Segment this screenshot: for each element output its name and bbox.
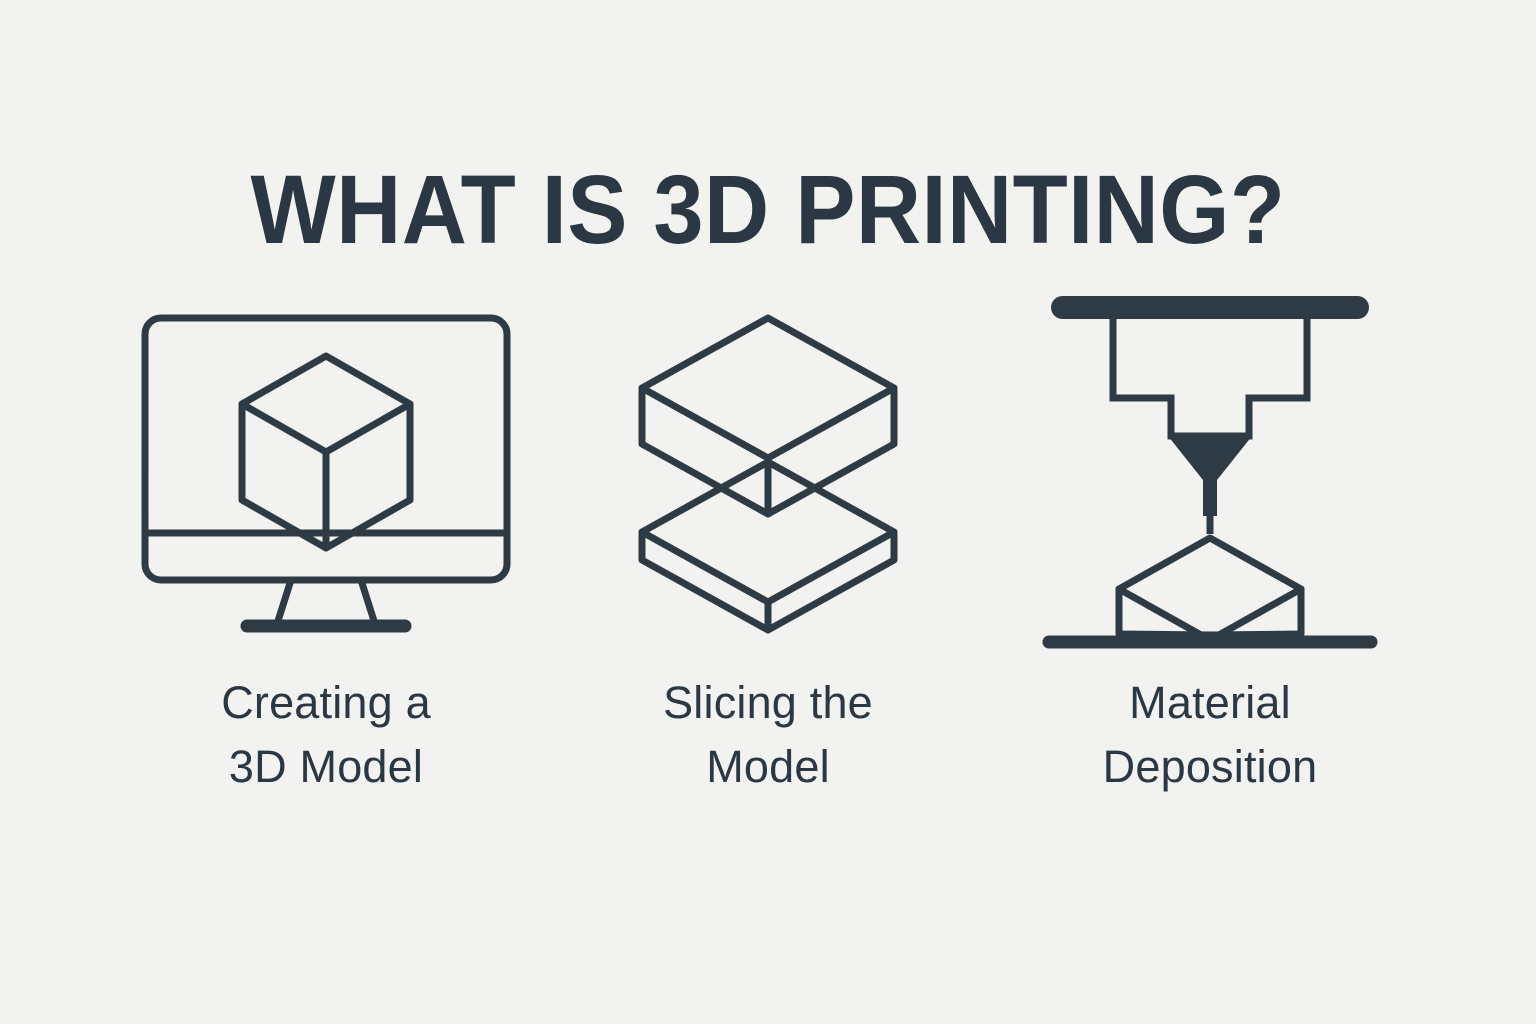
sliced-cube-layers-icon [573,286,963,661]
print-head-housing [1113,312,1307,436]
printer-gantry-rail [1051,296,1369,319]
step-card-material-deposition: Material Deposition [989,286,1431,799]
step-caption: Creating a 3D Model [126,671,526,799]
monitor-stand-right-leg [361,580,375,624]
step-caption: Slicing the Model [568,671,968,799]
infographic-poster: WHAT IS 3D PRINTING? [0,0,1536,1024]
steps-row: Creating a 3D Model [0,286,1536,799]
step-caption-line-2: Deposition [1010,735,1410,799]
cube-top-edges [242,404,410,452]
step-caption: Material Deposition [1010,671,1410,799]
wireframe-cube-on-screen [242,356,410,548]
step-caption-line-2: 3D Model [126,735,526,799]
printed-wireframe-cube [1119,538,1301,640]
printer-nozzle-extruding-cube-icon [1015,286,1405,661]
cube-outline-hex [1119,538,1301,635]
monitor-with-3d-cube-icon [131,286,521,661]
step-caption-line-1: Creating a [126,671,526,735]
step-card-slicing-the-model: Slicing the Model [547,286,989,799]
upper-slab-top-edges [642,388,894,458]
lower-slab-top-edges [642,532,894,602]
nozzle-funnel-tip [1168,436,1252,516]
step-caption-line-1: Slicing the [568,671,968,735]
page-title: WHAT IS 3D PRINTING? [54,161,1482,258]
cube-upper-slab [642,318,894,514]
step-caption-line-1: Material [1010,671,1410,735]
monitor-stand-left-leg [277,580,291,624]
step-card-creating-a-3d-model: Creating a 3D Model [105,286,547,799]
step-caption-line-2: Model [568,735,968,799]
